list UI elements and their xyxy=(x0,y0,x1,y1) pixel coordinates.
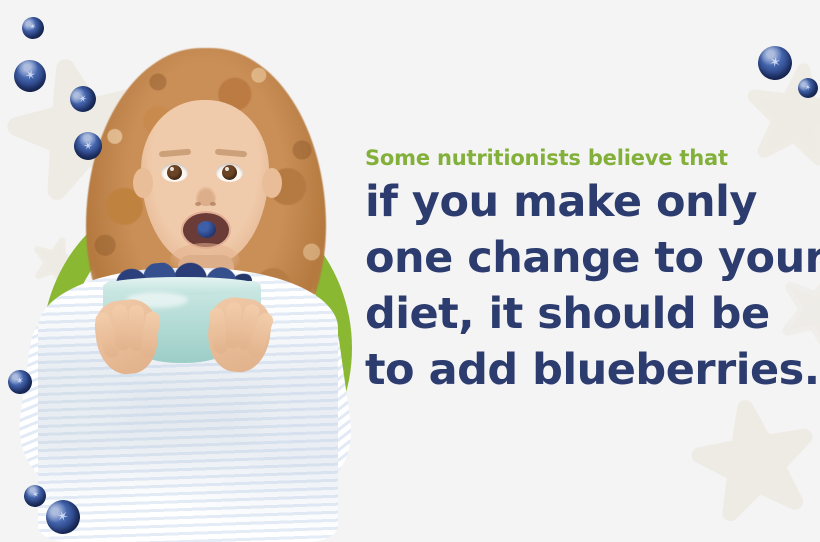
blueberry-in-mouth xyxy=(197,221,216,238)
berry-crown-icon: ✶ xyxy=(77,92,90,106)
star-right-lower xyxy=(680,388,820,539)
berry-top-right-small: ✶ xyxy=(796,76,820,101)
headline-line-2: one change to your xyxy=(365,230,817,286)
berry-crown-icon: ✶ xyxy=(30,491,39,502)
berry-crown-icon: ✶ xyxy=(28,23,37,33)
eye-right xyxy=(216,163,243,182)
headline-line-3: diet, it should be xyxy=(365,286,817,342)
eye-left xyxy=(161,163,188,182)
berry-top-right-large: ✶ xyxy=(755,43,794,82)
ear-right xyxy=(262,168,282,198)
berry-crown-icon: ✶ xyxy=(55,509,70,526)
berry-crown-icon: ✶ xyxy=(23,68,37,84)
berry-crown-icon: ✶ xyxy=(15,376,25,387)
kicker-line: Some nutritionists believe that xyxy=(365,146,817,170)
headline: if you make onlyone change to yourdiet, … xyxy=(365,174,817,398)
ear-left xyxy=(133,168,153,198)
headline-line-1: if you make only xyxy=(365,174,817,230)
nostril-right xyxy=(210,202,216,206)
quote-text-block: Some nutritionists believe that if you m… xyxy=(365,146,817,398)
berry-crown-icon: ✶ xyxy=(804,83,813,93)
nostril-left xyxy=(195,202,201,206)
berry-crown-icon: ✶ xyxy=(768,55,782,71)
headline-line-4: to add blueberries. xyxy=(365,342,817,398)
girl-with-blueberries-photo xyxy=(0,0,360,542)
bowl-rim xyxy=(103,277,261,295)
promo-banner: ✶✶✶✶✶✶✶✶✶ Some nutritionists believe tha… xyxy=(0,0,820,542)
berry-crown-icon: ✶ xyxy=(81,138,96,154)
